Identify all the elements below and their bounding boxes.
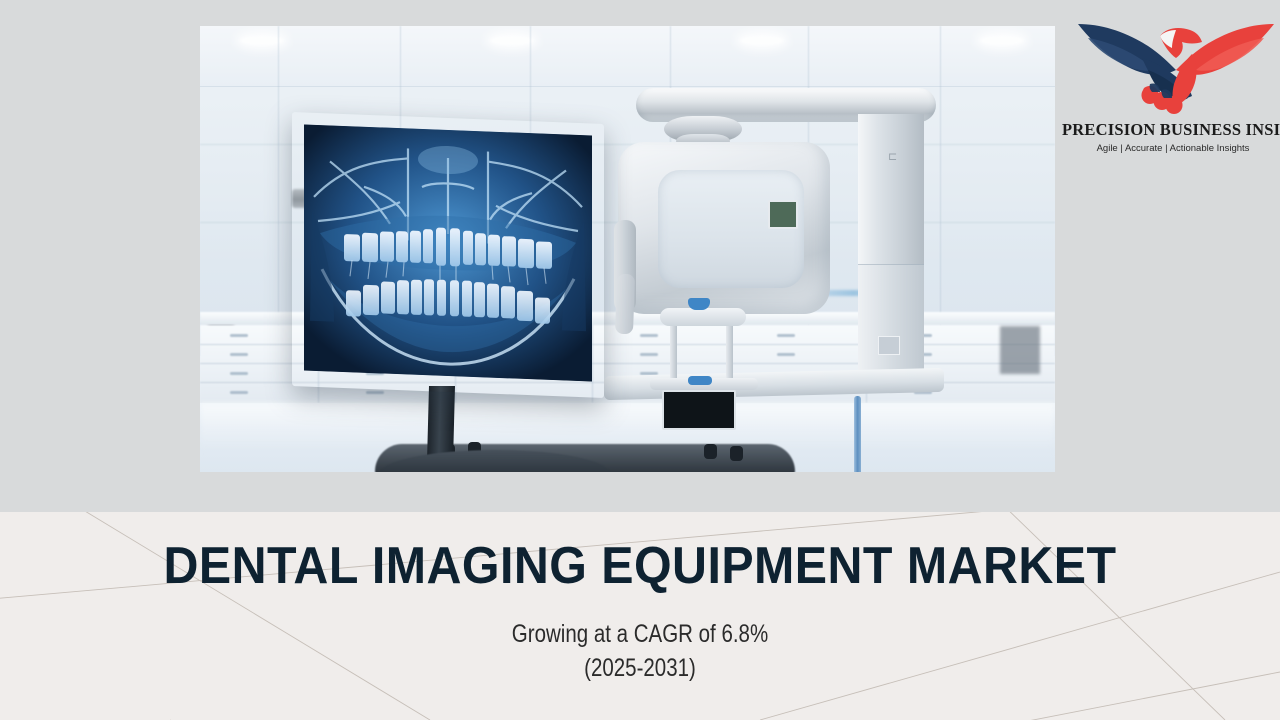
bite-block-icon — [688, 298, 710, 310]
chin-rest — [660, 308, 746, 326]
cagr-line: Growing at a CAGR of 6.8% — [512, 620, 768, 648]
column-marking: ⊏ — [888, 152, 896, 163]
blue-accent-stripe — [854, 396, 861, 472]
monitor-stand — [427, 386, 455, 462]
column-button-icon — [878, 336, 900, 355]
c-arm-opening — [658, 170, 804, 288]
page-subtitle: Growing at a CAGR of 6.8% (2025-2031) — [115, 617, 1165, 685]
machine-lcd-icon — [768, 200, 798, 229]
display-monitor — [292, 112, 604, 398]
market-report-slide: ⊏ — [0, 0, 1280, 720]
machine-screen — [662, 390, 736, 430]
page-title: DENTAL IMAGING EQUIPMENT MARKET — [45, 538, 1235, 594]
ceiling-light-icon — [490, 36, 534, 45]
dental-xray-image — [304, 124, 592, 381]
table-knob — [704, 444, 717, 459]
c-arm — [618, 142, 830, 314]
sensor-arm-lower — [615, 274, 635, 335]
table-knob — [730, 446, 743, 461]
company-logo: PRECISION BUSINESS INSIGHTS Agile | Accu… — [1066, 14, 1280, 164]
chin-post — [670, 326, 677, 384]
handshake-eagle-icon — [1072, 14, 1280, 118]
wall-seam — [278, 26, 279, 356]
chin-post — [726, 326, 733, 384]
logo-company-name: PRECISION BUSINESS INSIGHTS — [1062, 120, 1280, 140]
panoramic-radiograph-icon — [304, 124, 592, 381]
ceiling-light-icon — [740, 36, 784, 45]
panoramic-xray-machine: ⊏ — [600, 78, 1020, 472]
forecast-period-line: (2025-2031) — [115, 651, 1165, 685]
hero-photo: ⊏ — [200, 26, 1055, 472]
ceiling-light-icon — [980, 36, 1024, 45]
tray-blue-accent — [688, 376, 712, 385]
logo-tagline: Agile | Accurate | Actionable Insights — [1066, 143, 1280, 154]
